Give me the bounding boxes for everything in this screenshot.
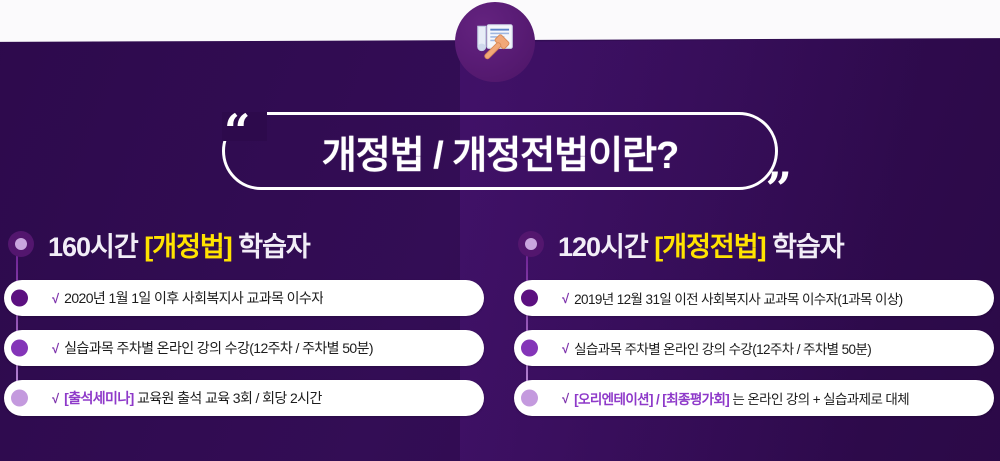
bullet-dot-icon (521, 290, 538, 307)
bullet-dot-icon (521, 340, 538, 357)
heading-text-left: 160시간 [개정법] 학습자 (48, 225, 310, 264)
check-icon: √ (562, 341, 569, 356)
column-heading-right: 120시간 [개정전법] 학습자 (514, 222, 994, 266)
check-icon: √ (52, 341, 59, 356)
bullet-dot-icon (11, 340, 28, 357)
check-icon: √ (562, 391, 569, 406)
document-gavel-icon (470, 17, 520, 67)
heading-bullet-icon (8, 231, 34, 257)
list-item[interactable]: √ 실습과목 주차별 온라인 강의 수강(12주차 / 주차별 50분) (4, 330, 484, 366)
infographic-canvas: “ ” 개정법 / 개정전법이란? 160시간 [개정법] 학습자 √ 2020… (0, 0, 1000, 461)
check-icon: √ (52, 291, 59, 306)
list-item-text: 2020년 1월 1일 이후 사회복지사 교과목 이수자 (64, 290, 323, 306)
bullet-dot-icon (11, 390, 28, 407)
list-item[interactable]: √ 2020년 1월 1일 이후 사회복지사 교과목 이수자 (4, 280, 484, 316)
list-item-label: [출석세미나] 교육원 출석 교육 3회 / 회당 2시간 (64, 388, 322, 408)
list-item[interactable]: √ [오리엔테이션] / [최종평가회] 는 온라인 강의 + 실습과제로 대체 (514, 380, 994, 416)
heading-prefix: 160시간 (48, 232, 144, 262)
bullet-dot-icon (521, 390, 538, 407)
quote-close-icon: ” (766, 166, 792, 212)
list-item-text: 실습과목 주차별 온라인 강의 수강(12주차 / 주차별 50분) (64, 340, 373, 356)
list-item-highlight: [오리엔테이션] / [최종평가회] (574, 392, 729, 407)
heading-suffix: 학습자 (766, 232, 844, 262)
check-icon: √ (562, 291, 569, 306)
list-item-text: 는 온라인 강의 + 실습과제로 대체 (729, 392, 909, 407)
column-revised-law: 160시간 [개정법] 학습자 √ 2020년 1월 1일 이후 사회복지사 교… (4, 222, 484, 416)
list-item-text: 교육원 출석 교육 3회 / 회당 2시간 (134, 390, 322, 406)
list-item-label: 2019년 12월 31일 이전 사회복지사 교과목 이수자(1과목 이상) (574, 288, 902, 308)
heading-highlight: [개정법] (144, 232, 232, 262)
list-item-label: 2020년 1월 1일 이후 사회복지사 교과목 이수자 (64, 288, 323, 308)
list-item[interactable]: √ 2019년 12월 31일 이전 사회복지사 교과목 이수자(1과목 이상) (514, 280, 994, 316)
list-item-text: 2019년 12월 31일 이전 사회복지사 교과목 이수자(1과목 이상) (574, 292, 902, 307)
list-item-label: [오리엔테이션] / [최종평가회] 는 온라인 강의 + 실습과제로 대체 (574, 388, 909, 408)
header-badge (455, 2, 535, 82)
list-item-label: 실습과목 주차별 온라인 강의 수강(12주차 / 주차별 50분) (64, 338, 373, 358)
heading-highlight: [개정전법] (654, 232, 765, 262)
check-icon: √ (52, 391, 59, 406)
list-item-label: 실습과목 주차별 온라인 강의 수강(12주차 / 주차별 50분) (574, 338, 871, 358)
heading-text-right: 120시간 [개정전법] 학습자 (558, 225, 844, 264)
list-item[interactable]: √ [출석세미나] 교육원 출석 교육 3회 / 회당 2시간 (4, 380, 484, 416)
title-banner: “ ” 개정법 / 개정전법이란? (222, 112, 778, 190)
list-item-text: 실습과목 주차별 온라인 강의 수강(12주차 / 주차별 50분) (574, 342, 871, 357)
column-heading-left: 160시간 [개정법] 학습자 (4, 222, 484, 266)
heading-prefix: 120시간 (558, 232, 654, 262)
list-item-highlight: [출석세미나] (64, 390, 134, 406)
bullet-dot-icon (11, 290, 28, 307)
page-title: 개정법 / 개정전법이란? (222, 112, 778, 190)
heading-suffix: 학습자 (232, 232, 310, 262)
quote-open-icon: “ (224, 108, 250, 154)
column-pre-revised-law: 120시간 [개정전법] 학습자 √ 2019년 12월 31일 이전 사회복지… (514, 222, 994, 416)
heading-bullet-icon (518, 231, 544, 257)
list-item[interactable]: √ 실습과목 주차별 온라인 강의 수강(12주차 / 주차별 50분) (514, 330, 994, 366)
